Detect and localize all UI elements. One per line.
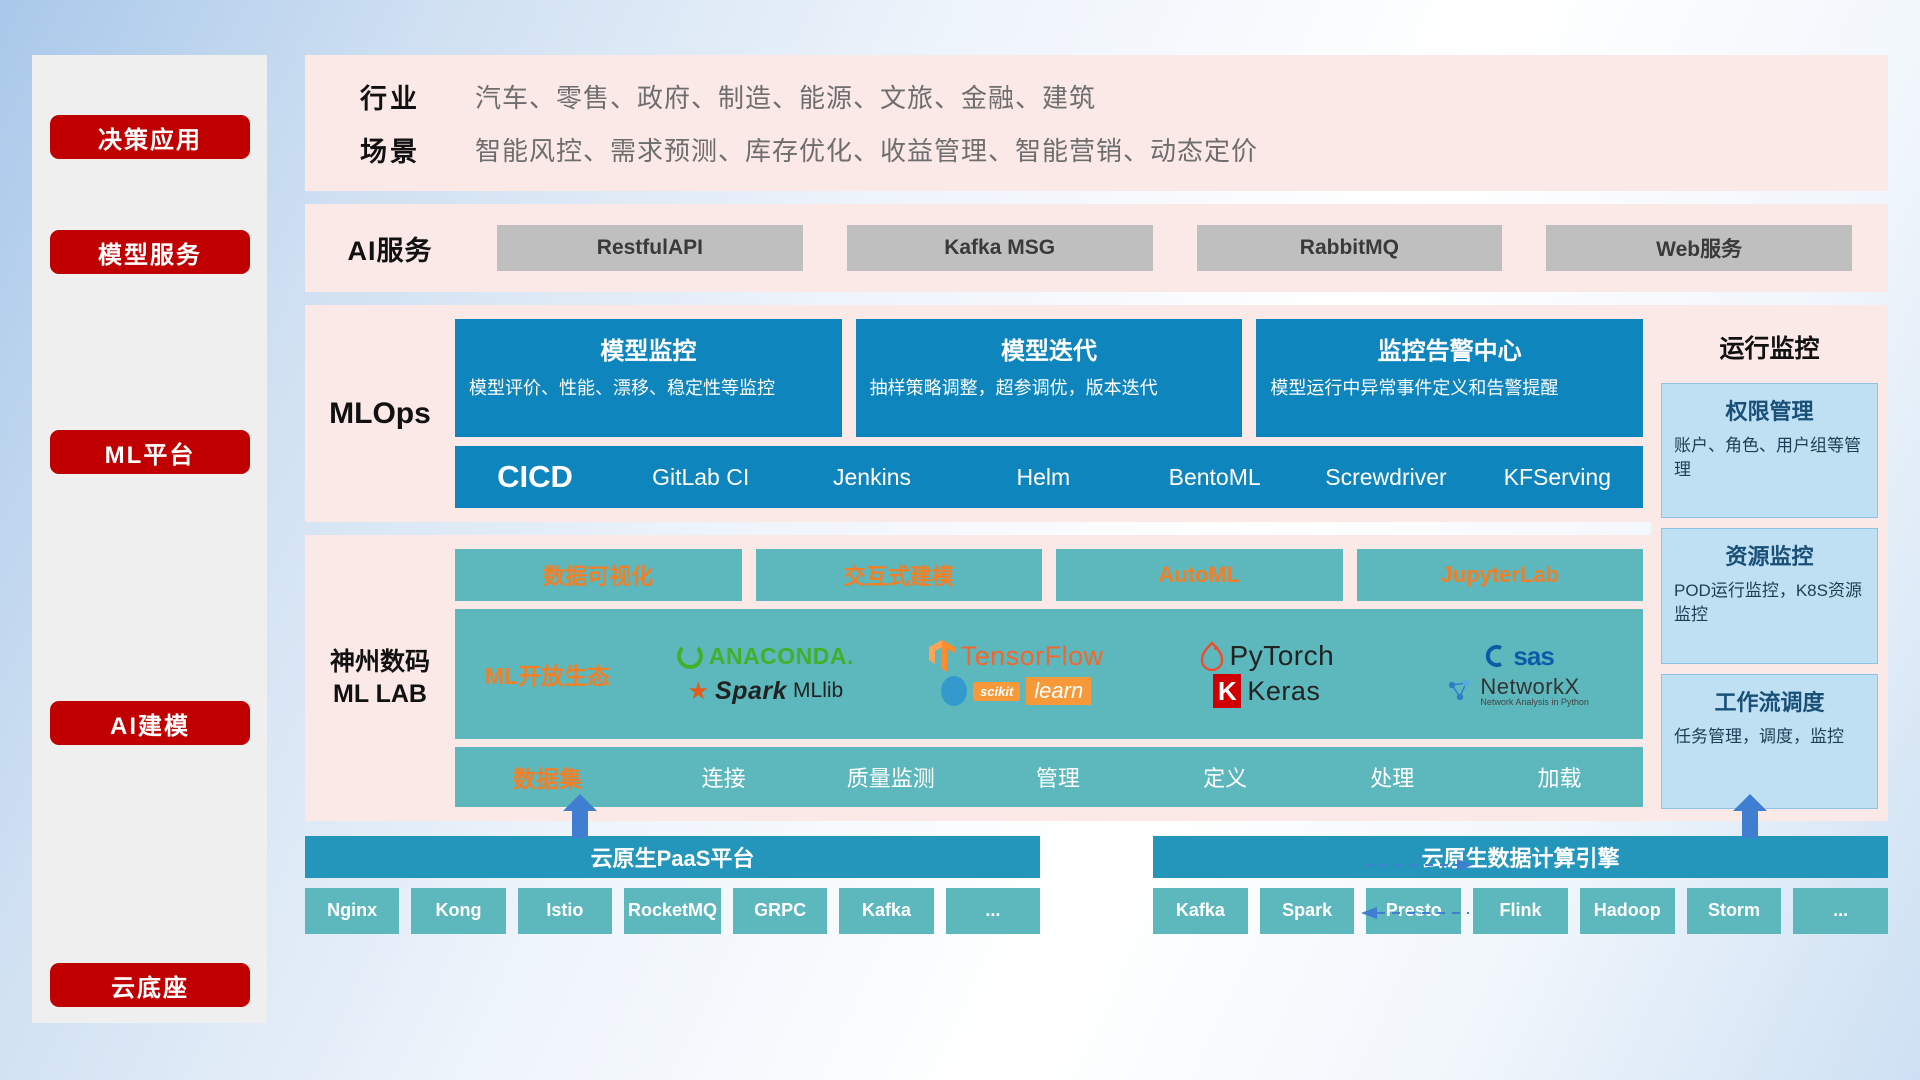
cloud-base-layer: 云原生PaaS平台 Nginx Kong Istio RocketMQ GRPC…	[305, 836, 1888, 934]
ml-ecosystem-label: ML开放生态	[455, 657, 640, 691]
keras-mark-icon: K	[1213, 674, 1241, 708]
dataset-item-quality[interactable]: 质量监测	[807, 761, 974, 793]
modeling-tab-jupyterlab[interactable]: JupyterLab	[1357, 549, 1644, 601]
monitor-card-resource[interactable]: 资源监控 POD运行监控，K8S资源监控	[1661, 528, 1878, 663]
paas-tag-rocketmq[interactable]: RocketMQ	[624, 888, 721, 934]
scenario-row: 场景 智能风控、需求预测、库存优化、收益管理、智能营销、动态定价	[305, 130, 1888, 169]
paas-compute-link-arrows	[1361, 851, 1473, 931]
mlops-band: MLOps 模型监控 模型评价、性能、漂移、稳定性等监控 模型迭代 抽样策略调整…	[305, 305, 1651, 522]
mlops-card-list: 模型监控 模型评价、性能、漂移、稳定性等监控 模型迭代 抽样策略调整，超参调优，…	[455, 319, 1643, 437]
compute-tag-storm[interactable]: Storm	[1687, 888, 1782, 934]
compute-engine-column: 云原生数据计算引擎 Kafka Spark Presto Flink Hadoo…	[1153, 836, 1888, 934]
paas-tag-more[interactable]: ...	[946, 888, 1040, 934]
ml-lab-label: 神州数码 ML LAB	[305, 646, 455, 711]
tensorflow-mark-icon	[929, 640, 955, 672]
mlops-card-title: 模型监控	[469, 331, 828, 366]
modeling-tab-automl[interactable]: AutoML	[1056, 549, 1343, 601]
compute-tag-more[interactable]: ...	[1793, 888, 1888, 934]
keras-logo: K Keras	[1213, 674, 1320, 708]
modeling-tab-data-viz[interactable]: 数据可视化	[455, 549, 742, 601]
sas-logo: sas	[1481, 641, 1553, 672]
paas-platform-column: 云原生PaaS平台 Nginx Kong Istio RocketMQ GRPC…	[305, 836, 1040, 934]
scenario-values: 智能风控、需求预测、库存优化、收益管理、智能营销、动态定价	[475, 131, 1258, 168]
runtime-monitoring-title: 运行监控	[1661, 329, 1878, 365]
paas-tag-grpc[interactable]: GRPC	[733, 888, 827, 934]
sas-mark-icon	[1481, 643, 1507, 669]
industry-values: 汽车、零售、政府、制造、能源、文旅、金融、建筑	[475, 78, 1096, 115]
scenario-label: 场景	[305, 130, 475, 169]
mlops-label: MLOps	[305, 397, 455, 431]
mlops-body: 模型监控 模型评价、性能、漂移、稳定性等监控 模型迭代 抽样策略调整，超参调优，…	[455, 319, 1651, 508]
ai-service-chip-web[interactable]: Web服务	[1546, 225, 1852, 271]
networkx-logo: NetworkX Network Analysis in Python	[1446, 676, 1589, 707]
monitor-card-desc: POD运行监控，K8S资源监控	[1674, 579, 1865, 627]
mlops-card-desc: 抽样策略调整，超参调优，版本迭代	[870, 376, 1229, 400]
anaconda-logo: ANACONDA.	[677, 643, 854, 670]
dataset-item-process[interactable]: 处理	[1309, 761, 1476, 793]
keras-logo-text: Keras	[1247, 676, 1320, 707]
sas-logo-text: sas	[1513, 641, 1553, 672]
rail-chip-ai-modeling[interactable]: AI建模	[50, 701, 250, 745]
anaconda-ring-icon	[677, 643, 703, 669]
ai-service-chip-rabbitmq[interactable]: RabbitMQ	[1197, 225, 1503, 271]
arrow-up-paas-icon	[563, 794, 597, 838]
decision-application-band: 行业 汽车、零售、政府、制造、能源、文旅、金融、建筑 场景 智能风控、需求预测、…	[305, 55, 1888, 191]
networkx-logo-subtext: Network Analysis in Python	[1480, 698, 1589, 707]
main-column: 行业 汽车、零售、政府、制造、能源、文旅、金融、建筑 场景 智能风控、需求预测、…	[305, 55, 1888, 934]
platform-left-column: MLOps 模型监控 模型评价、性能、漂移、稳定性等监控 模型迭代 抽样策略调整…	[305, 305, 1651, 821]
scikit-tag-text: scikit	[973, 682, 1020, 701]
paas-tag-kong[interactable]: Kong	[411, 888, 505, 934]
modeling-tab-list: 数据可视化 交互式建模 AutoML JupyterLab	[455, 549, 1643, 601]
mlops-card-alert-center[interactable]: 监控告警中心 模型运行中异常事件定义和告警提醒	[1256, 319, 1643, 437]
monitor-card-title: 工作流调度	[1674, 685, 1865, 717]
rail-chip-ml-platform[interactable]: ML平台	[50, 430, 250, 474]
arrow-up-compute-icon	[1733, 794, 1767, 838]
mlops-card-model-monitor[interactable]: 模型监控 模型评价、性能、漂移、稳定性等监控	[455, 319, 842, 437]
cicd-item-helm[interactable]: Helm	[958, 463, 1129, 492]
learn-logo-text: learn	[1026, 677, 1091, 705]
ai-modeling-band: 神州数码 ML LAB 数据可视化 交互式建模 AutoML JupyterLa…	[305, 535, 1651, 821]
rail-chip-model-service[interactable]: 模型服务	[50, 230, 250, 274]
spark-star-icon: ★	[688, 677, 710, 706]
ai-modeling-body: 数据可视化 交互式建模 AutoML JupyterLab ML开放生态 ANA…	[455, 549, 1651, 807]
runtime-monitoring-panel: 运行监控 权限管理 账户、角色、用户组等管理 资源监控 POD运行监控，K8S资…	[1651, 305, 1888, 821]
platform-stack: MLOps 模型监控 模型评价、性能、漂移、稳定性等监控 模型迭代 抽样策略调整…	[305, 305, 1888, 821]
paas-tag-kafka[interactable]: Kafka	[839, 888, 933, 934]
networkx-nodes-icon	[1446, 677, 1474, 705]
monitor-card-desc: 任务管理，调度，监控	[1674, 725, 1865, 749]
monitor-card-permission[interactable]: 权限管理 账户、角色、用户组等管理	[1661, 383, 1878, 518]
ai-service-chip-kafka-msg[interactable]: Kafka MSG	[847, 225, 1153, 271]
dataset-item-manage[interactable]: 管理	[974, 761, 1141, 793]
monitor-card-workflow[interactable]: 工作流调度 任务管理，调度，监控	[1661, 674, 1878, 809]
ml-ecosystem-logo-grid: ANACONDA. TensorFlow	[640, 640, 1643, 708]
industry-label: 行业	[305, 77, 475, 116]
runtime-monitoring-column: 运行监控 权限管理 账户、角色、用户组等管理 资源监控 POD运行监控，K8S资…	[1651, 305, 1888, 821]
industry-row: 行业 汽车、零售、政府、制造、能源、文旅、金融、建筑	[305, 77, 1888, 116]
cicd-item-gitlab-ci[interactable]: GitLab CI	[615, 463, 786, 492]
mllib-logo-text: MLlib	[793, 679, 843, 703]
pytorch-logo-text: PyTorch	[1230, 640, 1335, 672]
left-rail: 决策应用 模型服务 ML平台 AI建模 云底座	[32, 55, 267, 1023]
spark-logo-text: Spark	[715, 677, 787, 706]
tensorflow-logo-text: TensorFlow	[961, 641, 1104, 672]
rail-chip-cloud-base[interactable]: 云底座	[50, 963, 250, 1007]
dataset-item-connect[interactable]: 连接	[640, 761, 807, 793]
dataset-row: 数据集 连接 质量监测 管理 定义 处理 加载	[455, 747, 1643, 807]
compute-tag-list: Kafka Spark Presto Flink Hadoop Storm ..…	[1153, 888, 1888, 934]
cicd-bar: CICD GitLab CI Jenkins Helm BentoML Scre…	[455, 446, 1643, 508]
cicd-item-kfserving[interactable]: KFServing	[1472, 463, 1643, 492]
mlops-card-desc: 模型评价、性能、漂移、稳定性等监控	[469, 376, 828, 400]
networkx-logo-text: NetworkX	[1480, 676, 1589, 698]
compute-tag-flink[interactable]: Flink	[1473, 888, 1568, 934]
dataset-item-load[interactable]: 加载	[1476, 761, 1643, 793]
paas-tag-istio[interactable]: Istio	[518, 888, 612, 934]
monitor-card-title: 资源监控	[1674, 539, 1865, 571]
cicd-item-jenkins[interactable]: Jenkins	[786, 463, 957, 492]
dataset-label: 数据集	[455, 760, 640, 794]
dataset-item-define[interactable]: 定义	[1142, 761, 1309, 793]
ai-service-band: AI服务 RestfulAPI Kafka MSG RabbitMQ Web服务	[305, 204, 1888, 292]
pytorch-logo: PyTorch	[1200, 640, 1335, 672]
mlops-card-title: 模型迭代	[870, 331, 1229, 366]
cicd-item-screwdriver[interactable]: Screwdriver	[1300, 463, 1471, 492]
scikit-blob-icon	[941, 676, 967, 706]
ml-ecosystem-row: ML开放生态 ANACONDA.	[455, 609, 1643, 739]
scikit-learn-logo: scikit learn	[941, 676, 1091, 706]
mlops-card-desc: 模型运行中异常事件定义和告警提醒	[1270, 376, 1629, 400]
mlops-card-title: 监控告警中心	[1270, 331, 1629, 366]
ml-lab-label-line1: 神州数码	[305, 646, 455, 679]
tensorflow-logo: TensorFlow	[929, 640, 1104, 672]
monitor-card-title: 权限管理	[1674, 394, 1865, 426]
anaconda-logo-text: ANACONDA.	[709, 643, 854, 670]
compute-tag-kafka[interactable]: Kafka	[1153, 888, 1248, 934]
modeling-tab-interactive[interactable]: 交互式建模	[756, 549, 1043, 601]
paas-platform-title: 云原生PaaS平台	[305, 836, 1040, 878]
mlops-card-model-iteration[interactable]: 模型迭代 抽样策略调整，超参调优，版本迭代	[856, 319, 1243, 437]
compute-engine-title: 云原生数据计算引擎	[1153, 836, 1888, 878]
cicd-label: CICD	[455, 459, 615, 495]
paas-tag-list: Nginx Kong Istio RocketMQ GRPC Kafka ...	[305, 888, 1040, 934]
ai-service-chip-restfulapi[interactable]: RestfulAPI	[497, 225, 803, 271]
compute-tag-spark[interactable]: Spark	[1260, 888, 1355, 934]
diagram-canvas: 决策应用 模型服务 ML平台 AI建模 云底座 行业 汽车、零售、政府、制造、能…	[0, 0, 1920, 1080]
monitor-card-desc: 账户、角色、用户组等管理	[1674, 434, 1865, 482]
cicd-item-bentoml[interactable]: BentoML	[1129, 463, 1300, 492]
spark-mllib-logo: ★ Spark MLlib	[688, 677, 844, 706]
cicd-item-list: GitLab CI Jenkins Helm BentoML Screwdriv…	[615, 463, 1643, 492]
ai-service-list: RestfulAPI Kafka MSG RabbitMQ Web服务	[475, 225, 1888, 271]
rail-chip-decision[interactable]: 决策应用	[50, 115, 250, 159]
paas-tag-nginx[interactable]: Nginx	[305, 888, 399, 934]
ml-lab-label-line2: ML LAB	[305, 678, 455, 711]
dataset-item-list: 连接 质量监测 管理 定义 处理 加载	[640, 761, 1643, 793]
compute-tag-hadoop[interactable]: Hadoop	[1580, 888, 1675, 934]
ai-service-label: AI服务	[305, 229, 475, 268]
pytorch-flame-icon	[1200, 641, 1224, 671]
